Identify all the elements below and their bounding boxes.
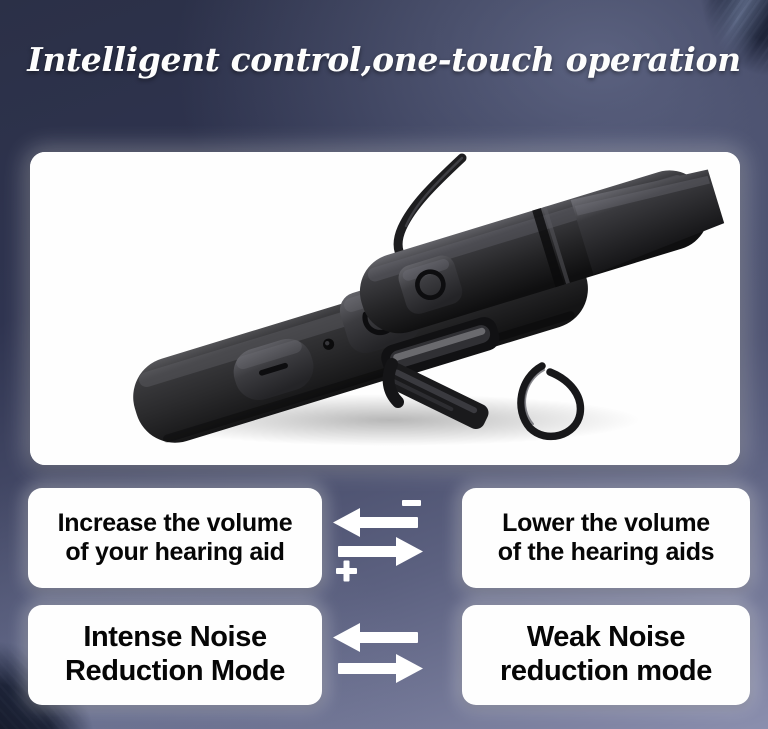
arrow-right-icon (338, 654, 423, 683)
arrow-pair-volume (328, 488, 428, 588)
feature-row-noise-reduction: Intense Noise Reduction Mode Weak Noise … (0, 605, 768, 705)
minus-sign-icon (402, 500, 421, 506)
plus-sign-icon (336, 561, 357, 582)
feature-row-volume: Increase the volume of your hearing aid (0, 488, 768, 588)
arrow-pair-noise (328, 605, 428, 705)
arrow-left-icon (333, 508, 418, 537)
feature-line-2: Reduction Mode (65, 655, 285, 689)
feature-card-weak-noise-reduction: Weak Noise reduction mode (462, 605, 750, 705)
feature-line-2: of the hearing aids (498, 538, 715, 567)
feature-line-1: Weak Noise (527, 621, 685, 655)
arrow-left-icon (333, 623, 418, 652)
hero-product-image (30, 152, 740, 465)
feature-line-2: reduction mode (500, 655, 712, 689)
feature-card-intense-noise-reduction: Intense Noise Reduction Mode (28, 605, 322, 705)
product-feature-poster: Intelligent control,one-touch operation (0, 0, 768, 729)
arrow-right-icon (338, 537, 423, 566)
feature-card-increase-volume: Increase the volume of your hearing aid (28, 488, 322, 588)
feature-card-lower-volume: Lower the volume of the hearing aids (462, 488, 750, 588)
page-title: Intelligent control,one-touch operation (0, 40, 768, 79)
feature-line-1: Lower the volume (502, 509, 710, 538)
feature-line-1: Intense Noise (83, 621, 266, 655)
feature-line-2: of your hearing aid (65, 538, 284, 567)
feature-line-1: Increase the volume (58, 509, 293, 538)
